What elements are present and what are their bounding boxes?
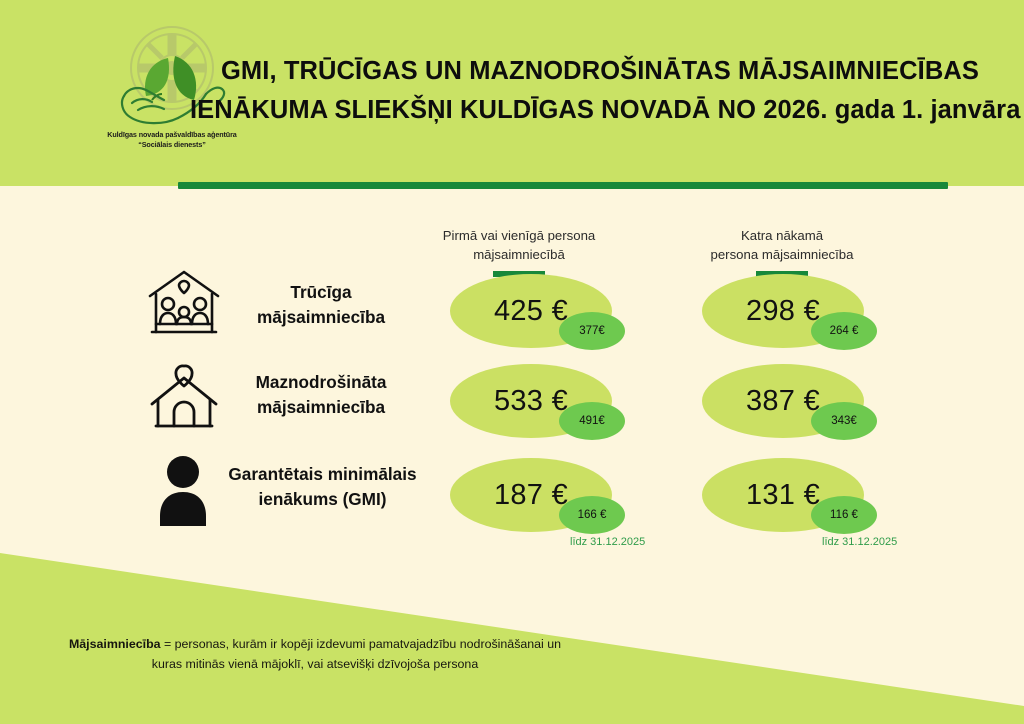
table-row: Garantētais minimālais ienākums (GMI) 18…: [0, 452, 1024, 548]
footnote-definition: Mājsaimniecība = personas, kurām ir kopē…: [30, 634, 600, 674]
logo-caption-line2: “Sociālais dienests”: [138, 140, 206, 149]
value-bubble-group: 131 € 116 € līdz 31.12.2025: [692, 452, 922, 548]
value-previous: 343€: [811, 402, 877, 440]
title-line-2: IENĀKUMA SLIEKŠŅI KULDĪGAS NOVADĀ NO 202…: [190, 91, 1010, 130]
value-bubble-group: 298 € 264 €: [692, 268, 922, 364]
value-bubble-group: 187 € 166 € līdz 31.12.2025: [440, 452, 670, 548]
header-divider-rule: [178, 182, 948, 189]
table-row: Trūcīga mājsaimniecība 425 € 377€ 298 € …: [0, 268, 1024, 364]
row-1-label-line2: mājsaimniecība: [257, 307, 385, 327]
row-3-label-line2: ienākums (GMI): [259, 489, 387, 509]
poster-title: GMI, TRŪCĪGAS UN MAZNODROŠINĀTAS MĀJSAIM…: [190, 52, 1010, 130]
value-previous: 166 €: [559, 496, 625, 534]
footnote-term: Mājsaimniecība: [69, 637, 161, 651]
column-header-1-line1: Pirmā vai vienīgā persona: [443, 228, 595, 243]
infographic-poster: Kuldīgas novada pašvaldības aģentūra “So…: [0, 0, 1024, 724]
footnote-line1: = personas, kurām ir kopēji izdevumi pam…: [161, 637, 562, 651]
value-note: līdz 31.12.2025: [570, 536, 710, 548]
column-header-2-line1: Katra nākamā: [741, 228, 823, 243]
value-bubble-group: 425 € 377€: [440, 268, 670, 364]
column-header-2-line2: persona mājsaimniecība: [711, 247, 854, 262]
row-label-gmi: Garantētais minimālais ienākums (GMI): [190, 462, 455, 512]
title-line-1: GMI, TRŪCĪGAS UN MAZNODROŠINĀTAS MĀJSAIM…: [190, 52, 1010, 91]
value-previous: 264 €: [811, 312, 877, 350]
value-bubble-group: 533 € 491€: [440, 358, 670, 454]
row-1-label-line1: Trūcīga: [290, 282, 351, 302]
footnote-line2: kuras mitinās vienā mājoklī, vai atseviš…: [30, 654, 600, 674]
value-previous: 377€: [559, 312, 625, 350]
row-label-maznodrosinata: Maznodrošināta mājsaimniecība: [196, 370, 446, 420]
logo-caption-line1: Kuldīgas novada pašvaldības aģentūra: [107, 130, 236, 139]
column-header-1-line2: mājsaimniecībā: [473, 247, 565, 262]
row-2-label-line2: mājsaimniecība: [257, 397, 385, 417]
value-previous: 116 €: [811, 496, 877, 534]
row-3-label-line1: Garantētais minimālais: [228, 464, 416, 484]
logo-caption: Kuldīgas novada pašvaldības aģentūra “So…: [72, 130, 272, 149]
value-bubble-group: 387 € 343€: [692, 358, 922, 454]
row-2-label-line1: Maznodrošināta: [256, 372, 387, 392]
value-previous: 491€: [559, 402, 625, 440]
table-row: Maznodrošināta mājsaimniecība 533 € 491€…: [0, 358, 1024, 454]
row-label-trucigs: Trūcīga mājsaimniecība: [206, 280, 436, 330]
value-note: līdz 31.12.2025: [822, 536, 962, 548]
